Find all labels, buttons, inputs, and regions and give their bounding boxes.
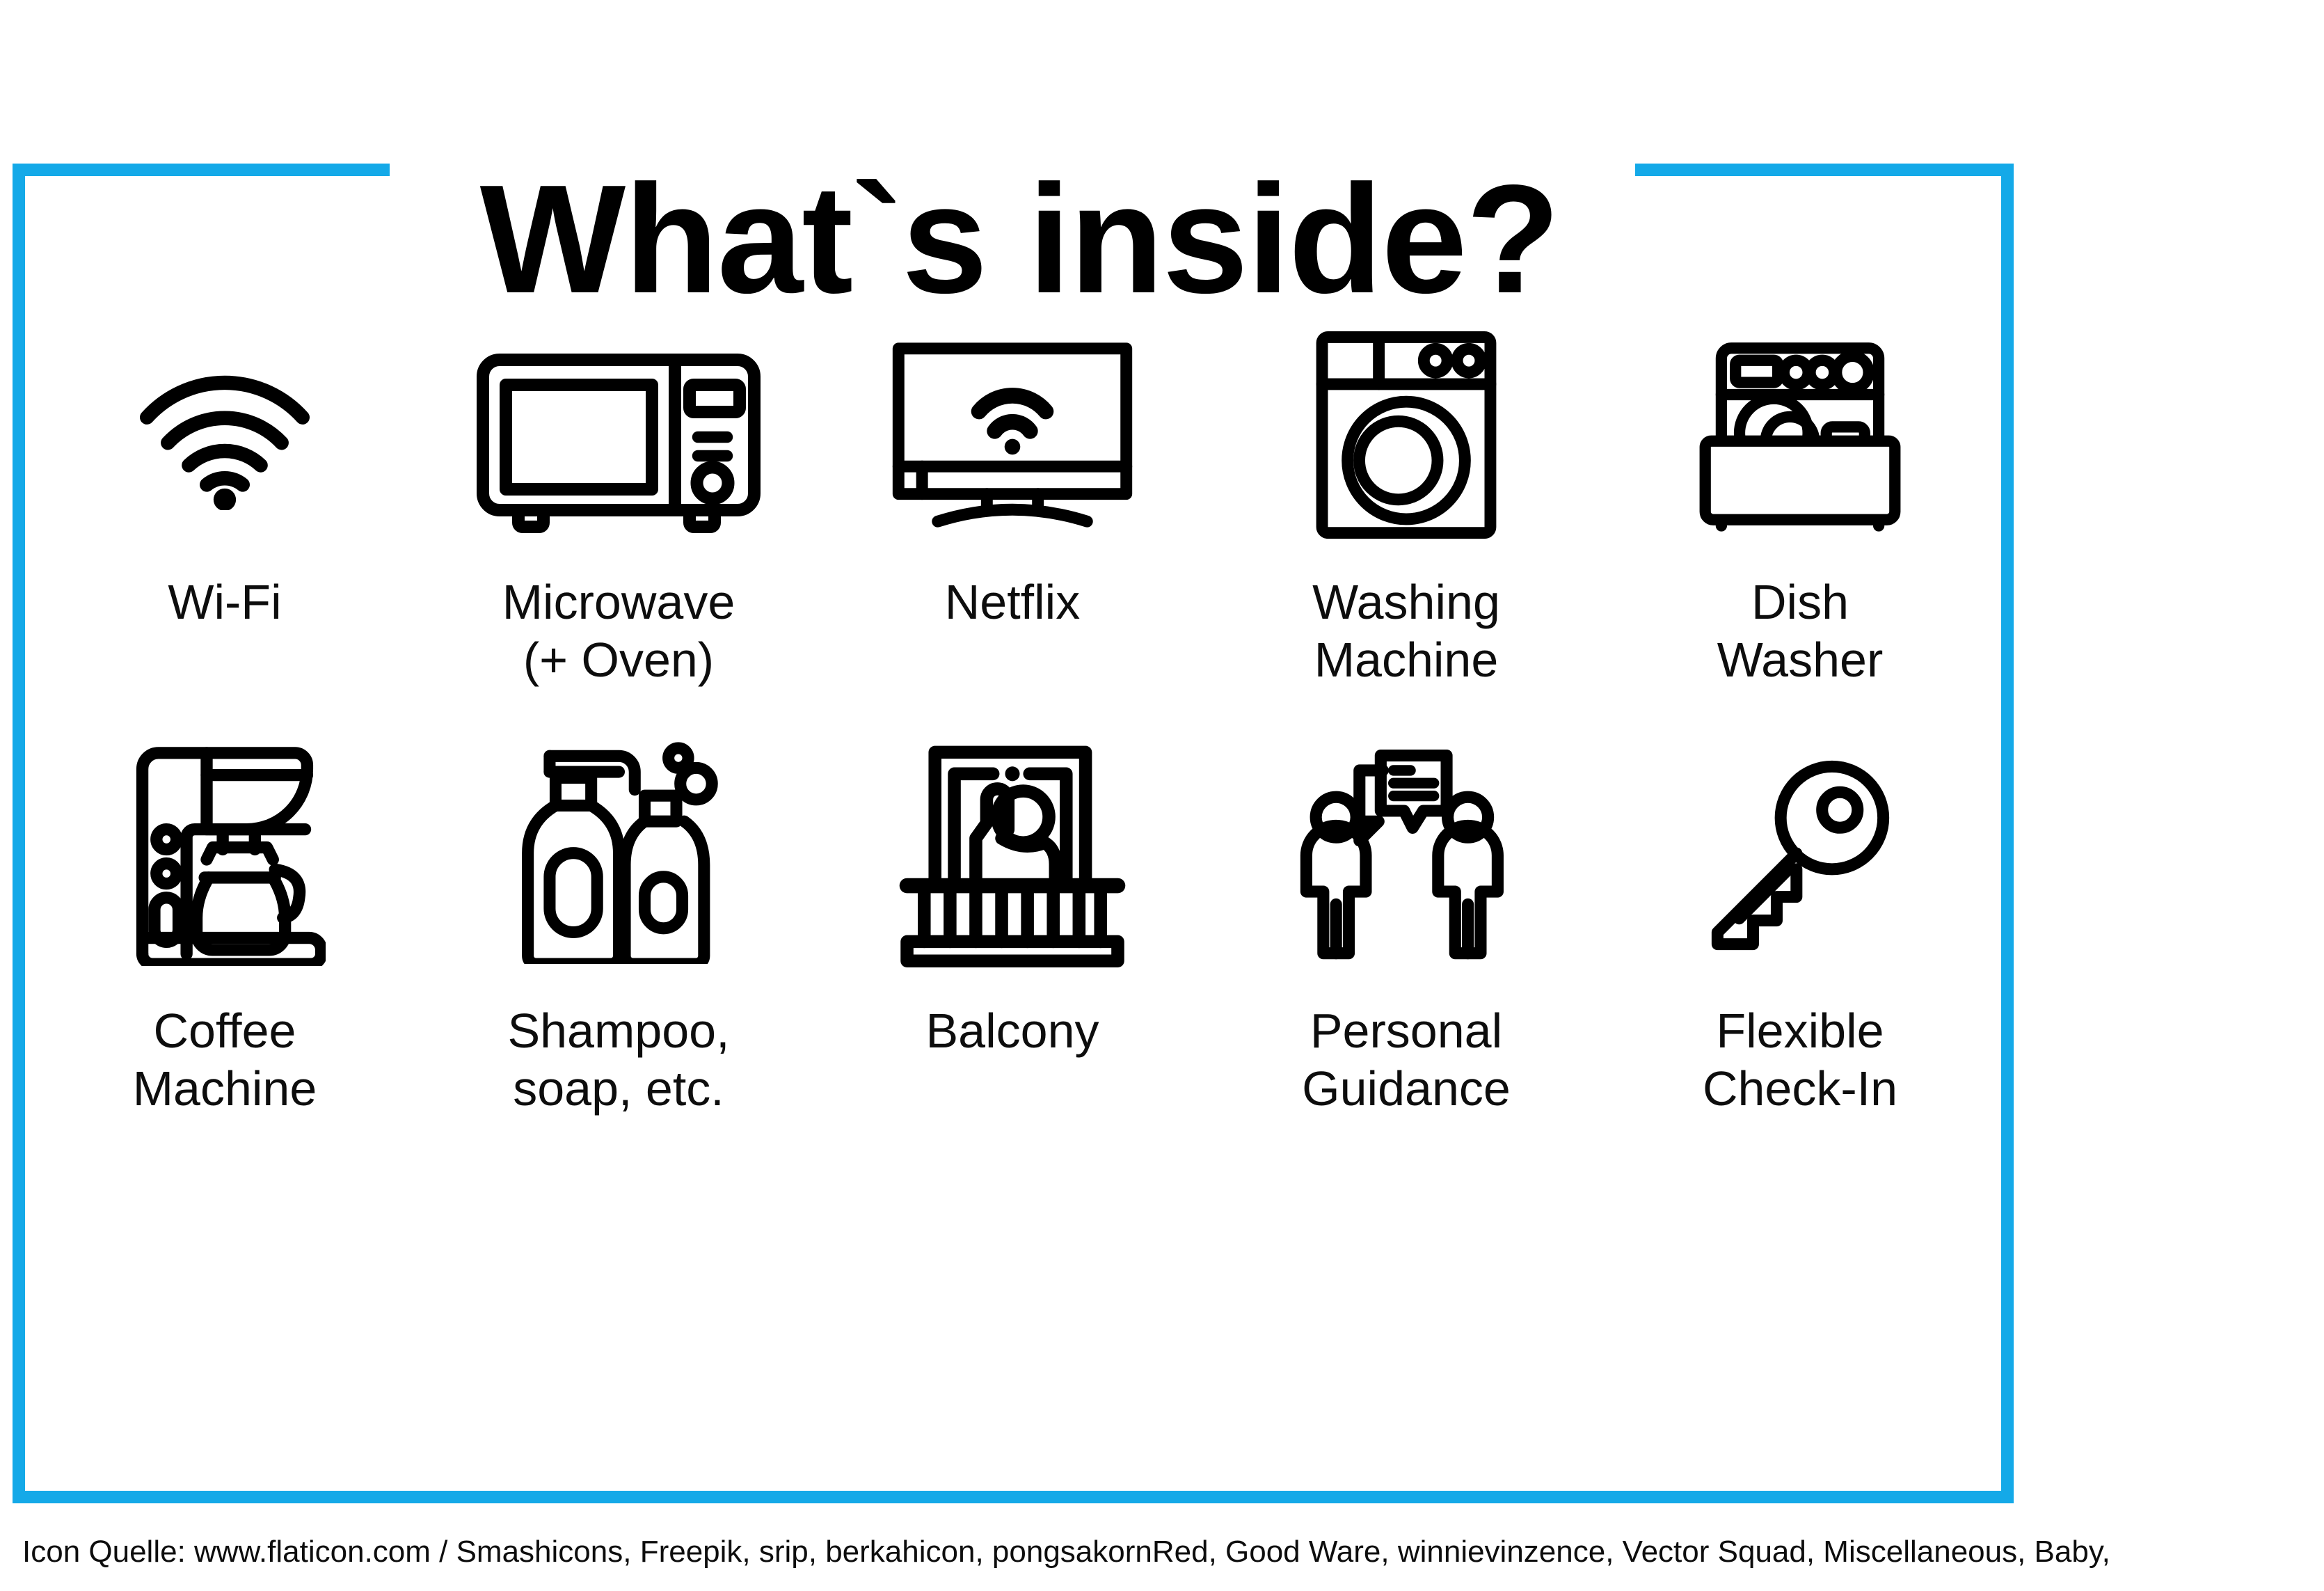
feature-item-balcony[interactable]: Balcony bbox=[815, 724, 1209, 1183]
feature-label: Dish Washer bbox=[1717, 573, 1884, 688]
feature-grid: Wi-Fi M bbox=[28, 320, 1997, 1183]
feature-label: Flexible Check-In bbox=[1703, 1002, 1897, 1117]
feature-item-microwave[interactable]: Microwave (+ Oven) bbox=[422, 320, 815, 724]
feature-item-shampoo[interactable]: Shampoo, soap, etc. bbox=[422, 724, 815, 1183]
feature-item-washing-machine[interactable]: Washing Machine bbox=[1209, 320, 1603, 724]
coffee-machine-icon bbox=[124, 724, 326, 974]
microwave-icon bbox=[472, 320, 765, 550]
feature-row: Coffee Machine bbox=[28, 724, 1997, 1183]
dishwasher-icon bbox=[1699, 320, 1901, 550]
wifi-icon bbox=[134, 320, 315, 550]
soap-bottles-icon bbox=[520, 724, 718, 974]
feature-label: Microwave (+ Oven) bbox=[502, 573, 735, 688]
feature-item-flexible-checkin[interactable]: Flexible Check-In bbox=[1603, 724, 1997, 1183]
feature-label: Personal Guidance bbox=[1302, 1002, 1511, 1117]
icon-source-credit: Icon Quelle: www.flaticon.com / Smashico… bbox=[22, 1535, 2110, 1569]
feature-label: Wi-Fi bbox=[168, 573, 281, 631]
balcony-icon bbox=[898, 724, 1127, 974]
washing-machine-icon bbox=[1312, 320, 1500, 550]
feature-row: Wi-Fi M bbox=[28, 320, 1997, 724]
feature-item-dishwasher[interactable]: Dish Washer bbox=[1603, 320, 1997, 724]
feature-item-personal-guidance[interactable]: Personal Guidance bbox=[1209, 724, 1603, 1183]
feature-label: Coffee Machine bbox=[133, 1002, 317, 1117]
feature-item-wifi[interactable]: Wi-Fi bbox=[28, 320, 422, 724]
key-icon bbox=[1701, 724, 1900, 974]
feature-label: Shampoo, soap, etc. bbox=[507, 1002, 729, 1117]
page-title: What`s inside? bbox=[0, 162, 2039, 317]
smart-tv-icon bbox=[891, 320, 1134, 550]
feature-label: Washing Machine bbox=[1312, 573, 1500, 688]
feature-label: Netflix bbox=[945, 573, 1080, 631]
feature-item-netflix[interactable]: Netflix bbox=[815, 320, 1209, 724]
two-people-chat-icon bbox=[1295, 724, 1518, 974]
feature-item-coffee-machine[interactable]: Coffee Machine bbox=[28, 724, 422, 1183]
feature-label: Balcony bbox=[925, 1002, 1099, 1060]
